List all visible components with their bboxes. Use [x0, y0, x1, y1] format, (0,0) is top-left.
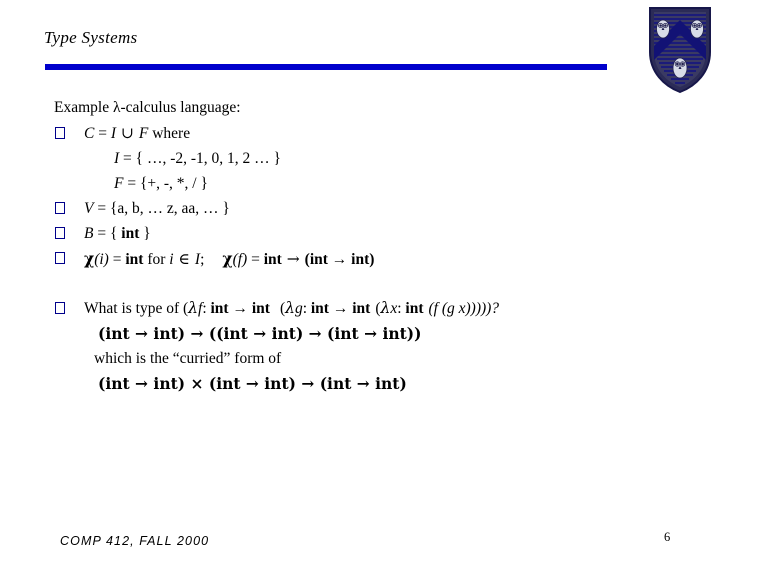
lead-in-text: Example λ-calculus language:	[44, 96, 684, 119]
where-keyword: where	[148, 125, 190, 142]
colon-f: :	[202, 300, 210, 317]
slide-canvas: { "slide": { "title": "Type Systems", "p…	[0, 0, 768, 576]
title-underline-rule	[45, 64, 607, 70]
footer-course-label: COMP 412, FALL 2000	[60, 534, 209, 548]
vertical-spacer	[44, 273, 684, 297]
semicolon: ;	[200, 251, 204, 268]
bullet-square-icon	[55, 227, 65, 239]
answer-type-line: (int → int) → ((int → int) → (int → int)…	[44, 322, 684, 345]
owl-upper-left	[657, 20, 670, 38]
bullet-square-icon	[55, 302, 65, 314]
lambda-body-application: (f (g x)))))?	[428, 300, 499, 317]
b-close-brace: }	[139, 225, 150, 242]
bullet-square-icon	[55, 252, 65, 264]
owl-upper-right	[691, 20, 704, 38]
type-f: int → int	[211, 300, 270, 317]
bullet-item-v-definition: V = {a, b, … z, aa, … }	[44, 197, 684, 220]
i-set-value: = { …, -2, -1, 0, 1, 2 … }	[119, 150, 281, 167]
bullet-item-chi-typing: χ(i) = int for i ∈ I;χ(f) = int → (int →…	[44, 247, 684, 271]
colon-g: :	[303, 300, 311, 317]
union-operator: ∪	[116, 124, 139, 142]
lambda-symbol-g: λ	[285, 299, 295, 317]
shield-icon	[646, 6, 714, 94]
for-keyword: for	[143, 251, 169, 268]
bullet-square-icon	[55, 202, 65, 214]
chi-arg-i: (i)	[94, 251, 109, 268]
slide-body: Example λ-calculus language: C = I ∪ F w…	[44, 96, 684, 397]
v-value: = {a, b, … z, aa, … }	[93, 200, 229, 217]
c-equals: =	[94, 125, 111, 142]
f-set-definition: F = {+, -, *, / }	[44, 172, 684, 195]
chi-arg-f: (f)	[233, 251, 248, 268]
lambda-symbol-x: λ	[380, 299, 390, 317]
bullet-item-b-definition: B = { int }	[44, 222, 684, 245]
page-title: Type Systems	[44, 28, 137, 48]
chi-equals-2: =	[247, 251, 264, 268]
arrow-operator: →	[282, 250, 305, 268]
type-x: int	[405, 300, 423, 317]
chi-symbol-2: χ	[222, 249, 232, 268]
lambda-var-g: g	[295, 300, 303, 317]
bullet-item-question: What is type of (λf: int → int(λg: int →…	[44, 297, 684, 320]
b-int-type: int	[121, 225, 139, 242]
curried-note-line: which is the “curried” form of	[44, 347, 684, 370]
chi-equals-1: =	[109, 251, 126, 268]
b-equals: = {	[93, 225, 121, 242]
f-set-value: = {+, -, *, / }	[123, 175, 207, 192]
element-of-operator: ∈	[174, 250, 195, 268]
lambda-symbol-f: λ	[188, 299, 198, 317]
i-set-definition: I = { …, -2, -1, 0, 1, 2 … }	[44, 147, 684, 170]
question-prefix: What is type of (	[84, 300, 188, 317]
chi-int-2: int	[264, 251, 282, 268]
owl-lower-center	[673, 58, 687, 78]
bullet-item-c-definition: C = I ∪ F where	[44, 122, 684, 145]
bullet-square-icon	[55, 127, 65, 139]
uncurried-type-line: (int → int) × (int → int) → (int → int)	[44, 372, 684, 395]
slide-number: 6	[664, 530, 670, 545]
f-symbol: F	[139, 125, 148, 142]
rice-university-shield-logo	[646, 6, 714, 94]
chi-int-1: int	[125, 251, 143, 268]
chi-f-tail-type: (int → int)	[305, 251, 375, 268]
c-symbol: C	[84, 125, 94, 142]
type-g: int → int	[311, 300, 370, 317]
chi-symbol: χ	[84, 249, 94, 268]
